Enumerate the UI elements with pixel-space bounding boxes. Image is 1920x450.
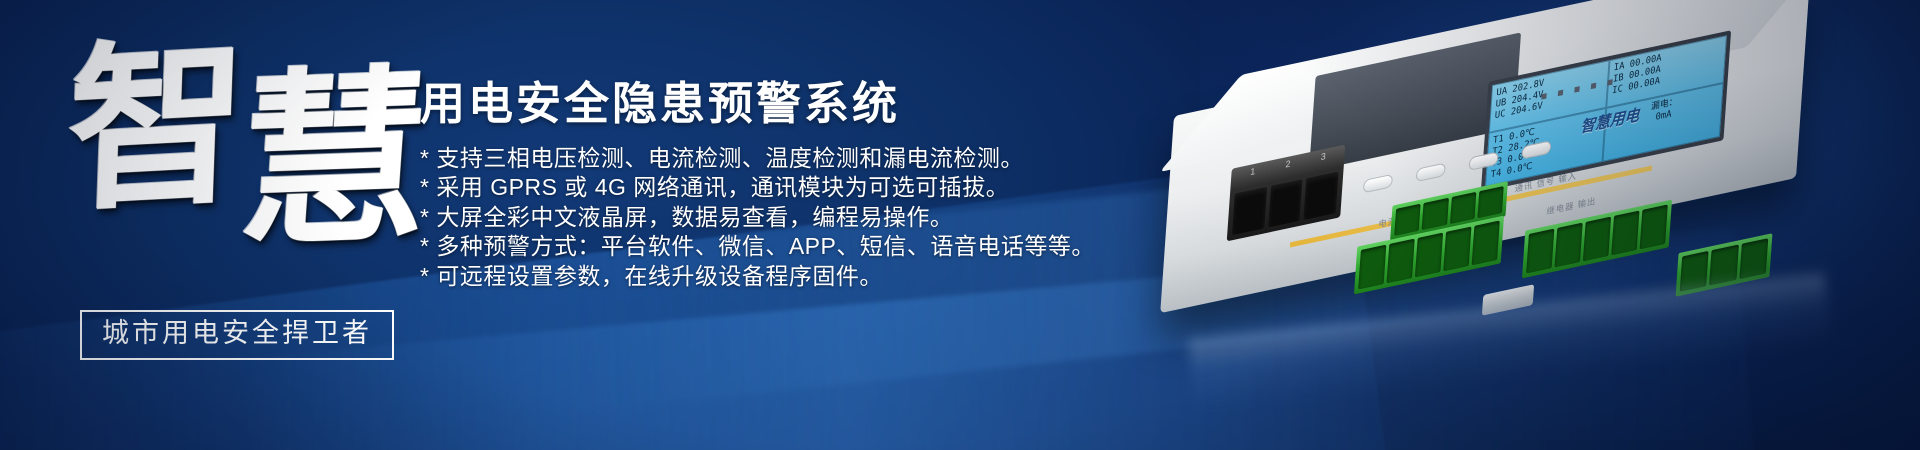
connector-pin-label-1: 1 — [1236, 163, 1268, 186]
calligraphy-logo: 智 慧 — [62, 24, 402, 284]
feature-item: * 大屏全彩中文液晶屏，数据易查看，编程易操作。 — [420, 203, 1140, 233]
device-button-confirm[interactable] — [1521, 140, 1551, 160]
promo-banner: 智 慧 城市用电安全捍卫者 用电安全隐患预警系统 * 支持三相电压检测、电流检测… — [0, 0, 1920, 450]
calligraphy-char-zhi: 智 — [65, 33, 250, 220]
feature-list: * 支持三相电压检测、电流检测、温度检测和漏电流检测。 * 采用 GPRS 或 … — [420, 144, 1140, 292]
connector-pin-label-3: 3 — [1307, 148, 1339, 171]
connector-pin — [1304, 172, 1339, 220]
feature-item: * 多种预警方式：平台软件、微信、APP、短信、语音电话等等。 — [420, 232, 1140, 262]
headline: 用电安全隐患预警系统 — [420, 78, 1140, 130]
calligraphy-char-hui: 慧 — [233, 63, 435, 257]
device-button-set[interactable] — [1363, 173, 1393, 193]
connector-pin-label-2: 2 — [1272, 155, 1304, 178]
feature-item: * 采用 GPRS 或 4G 网络通讯，通讯模块为可选可插拔。 — [420, 173, 1140, 203]
device-button-reset[interactable] — [1468, 151, 1498, 171]
tagline-text: 城市用电安全捍卫者 — [102, 319, 372, 349]
feature-item: * 支持三相电压检测、电流检测、温度检测和漏电流检测。 — [420, 144, 1140, 174]
product-device-image: UA 202.8V UB 204.4V UC 204.6V IA 00.00A … — [1110, 18, 1900, 348]
copy-block: 用电安全隐患预警系统 * 支持三相电压检测、电流检测、温度检测和漏电流检测。 *… — [420, 78, 1140, 291]
device-button-query[interactable] — [1416, 162, 1446, 182]
feature-item: * 可远程设置参数，在线升级设备程序固件。 — [420, 262, 1140, 292]
connector-pin — [1268, 179, 1303, 227]
connector-pin — [1232, 187, 1267, 235]
tagline-box: 城市用电安全捍卫者 — [80, 310, 394, 360]
